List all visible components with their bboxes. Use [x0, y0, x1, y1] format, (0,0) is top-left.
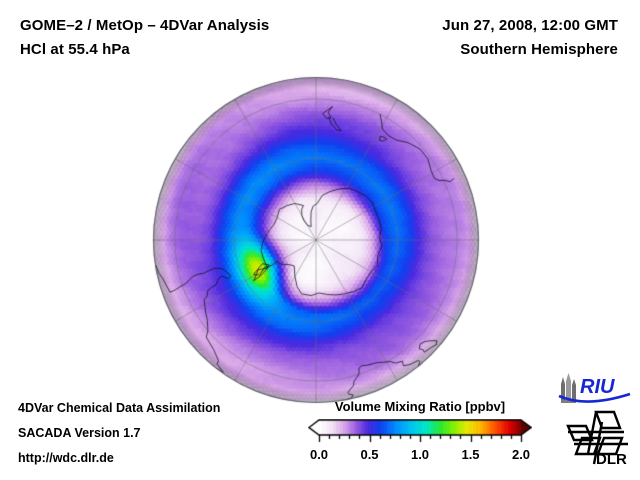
colorbar-tick-labels: 0.00.51.01.52.0 — [300, 447, 540, 465]
date-label: Jun 27, 2008, 12:00 GMT — [442, 17, 618, 34]
colorbar-tick-0: 0.0 — [310, 447, 328, 462]
colorbar-tick-3: 1.5 — [461, 447, 479, 462]
globe-map — [152, 76, 480, 404]
riu-wordmark: RIU — [580, 376, 615, 398]
title-line-1: GOME–2 / MetOp – 4DVar Analysis — [20, 17, 269, 34]
footer-line-2: SACADA Version 1.7 — [18, 426, 141, 440]
dlr-logo: DLR — [566, 410, 630, 468]
footer-url: http://wdc.dlr.de — [18, 451, 114, 465]
footer-line-1: 4DVar Chemical Data Assimilation — [18, 401, 220, 415]
colorbar: Volume Mixing Ratio [ppbv] 0.00.51.01.52… — [300, 399, 540, 465]
dlr-wordmark: DLR — [596, 451, 627, 468]
globe-canvas — [152, 76, 480, 404]
colorbar-title: Volume Mixing Ratio [ppbv] — [300, 399, 540, 414]
title-line-2: HCl at 55.4 hPa — [20, 41, 130, 58]
colorbar-tick-4: 2.0 — [512, 447, 530, 462]
riu-logo: RIU — [556, 372, 632, 406]
colorbar-tick-1: 0.5 — [360, 447, 378, 462]
hemisphere-label: Southern Hemisphere — [460, 41, 618, 58]
colorbar-tick-2: 1.0 — [411, 447, 429, 462]
colorbar-gradient — [308, 419, 532, 445]
